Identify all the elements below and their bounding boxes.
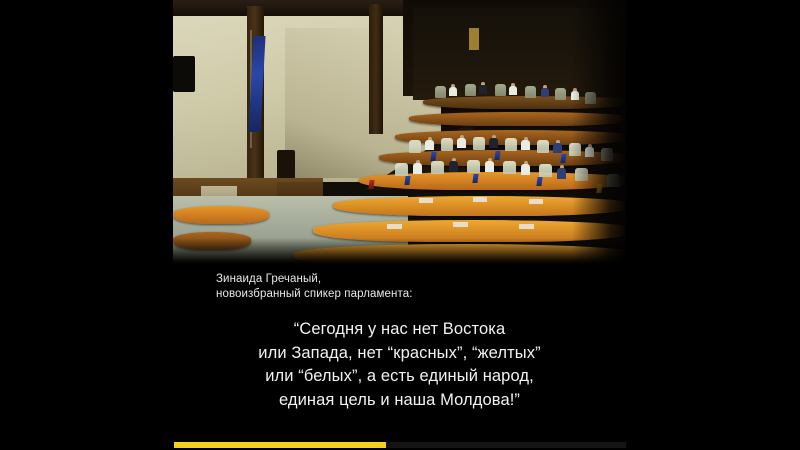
deputy: [485, 158, 494, 173]
deputy: [425, 137, 434, 151]
photo-right-shadow: [572, 0, 626, 264]
wood-pilaster-right: [369, 4, 383, 134]
chamber-seat: [503, 161, 516, 174]
deputy: [557, 165, 566, 180]
video-progress-fill[interactable]: [174, 442, 386, 448]
deputy: [479, 82, 487, 95]
quote-line-1: “Сегодня у нас нет Востока: [173, 318, 626, 342]
quote-text: “Сегодня у нас нет Востока или Запада, н…: [173, 318, 626, 412]
deputy: [553, 140, 562, 154]
deputy: [521, 137, 530, 151]
desk-paper: [387, 224, 402, 229]
bench-row: [173, 206, 269, 224]
gallery-light: [469, 28, 479, 50]
chamber-seat: [539, 164, 552, 177]
deputy: [541, 85, 549, 98]
desk-paper: [529, 199, 543, 204]
video-frame[interactable]: Зинаида Гречаный, новоизбранный спикер п…: [173, 0, 626, 450]
deputy: [521, 161, 530, 176]
chamber-seat: [495, 84, 506, 96]
quote-line-2: или Запада, нет “красных”, “желтых”: [173, 342, 626, 366]
chamber-seat: [537, 140, 549, 153]
chamber-seat: [431, 161, 444, 174]
deputy: [489, 135, 498, 149]
chamber-seat: [467, 160, 480, 173]
caption-overlay: Зинаида Гречаный, новоизбранный спикер п…: [173, 264, 626, 450]
chamber-seat: [465, 84, 476, 96]
desk-paper: [419, 198, 433, 203]
speaker-attribution: Зинаида Гречаный, новоизбранный спикер п…: [216, 272, 596, 301]
chamber-seat: [409, 140, 421, 153]
chamber-seat: [473, 137, 485, 150]
desk-paper: [473, 197, 487, 202]
photo-bottom-fade: [173, 238, 626, 264]
chamber-seat: [441, 138, 453, 151]
attribution-role: новоизбранный спикер парламента:: [216, 287, 596, 302]
deputy: [449, 158, 458, 173]
desk-paper: [453, 222, 468, 227]
parliament-chamber-photo: [173, 0, 626, 264]
video-player-stage: Зинаида Гречаный, новоизбранный спикер п…: [0, 0, 800, 450]
deputy: [509, 83, 517, 96]
video-progress-track[interactable]: [174, 442, 626, 448]
chamber-seat: [555, 88, 566, 100]
quote-line-3: или “белых”, а есть единый народ,: [173, 365, 626, 389]
attribution-name: Зинаида Гречаный,: [216, 272, 596, 287]
deputy: [413, 160, 422, 175]
deputy: [449, 84, 457, 97]
chamber-seat: [435, 86, 446, 98]
chamber-seat: [395, 163, 408, 176]
chamber-seat: [525, 86, 536, 98]
desk-paper: [519, 224, 534, 229]
deputy: [457, 135, 466, 149]
chamber-seat: [505, 138, 517, 151]
quote-line-4: единая цель и наша Молдова!”: [173, 389, 626, 413]
wall-monitor: [173, 56, 195, 92]
